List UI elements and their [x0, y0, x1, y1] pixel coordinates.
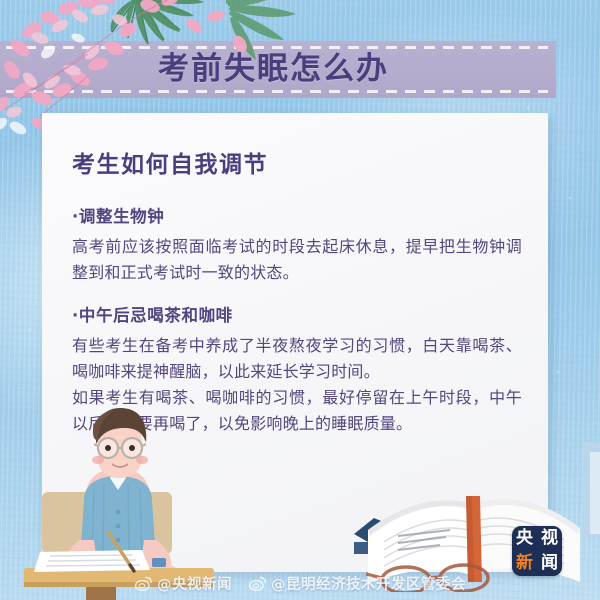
green-leaves-right	[226, 0, 296, 60]
logo-char-shi: 视	[541, 530, 558, 547]
card-heading: 考生如何自我调节	[72, 145, 522, 179]
cctv-news-logo: 央 视 新 闻	[512, 526, 562, 576]
section-biological-clock: ·调整生物钟 高考前应该按照面临考试的时段去起床休息，提早把生物钟调整到和正式考…	[72, 203, 522, 286]
section-title: ·中午后忌喝茶和咖啡	[72, 302, 522, 326]
student-illustration	[24, 400, 214, 600]
book-illustration	[354, 442, 600, 592]
section-body-first: 有些考生在备考中养成了半夜熬夜学习的习惯，白天靠喝茶、喝咖啡来提神醒脑，以此来延…	[72, 333, 522, 385]
section-body: 高考前应该按照面临考试的时段去起床休息，提早把生物钟调整到和正式考试时一致的状态…	[72, 234, 522, 286]
section-title: ·调整生物钟	[72, 203, 522, 227]
desk	[24, 568, 214, 600]
poster-canvas: 考前失眠怎么办	[0, 0, 600, 600]
logo-char-yang: 央	[516, 530, 533, 547]
logo-char-wen: 闻	[541, 555, 558, 572]
book-right-edge	[582, 442, 600, 538]
eraser	[152, 558, 166, 567]
logo-char-xin: 新	[516, 555, 533, 572]
